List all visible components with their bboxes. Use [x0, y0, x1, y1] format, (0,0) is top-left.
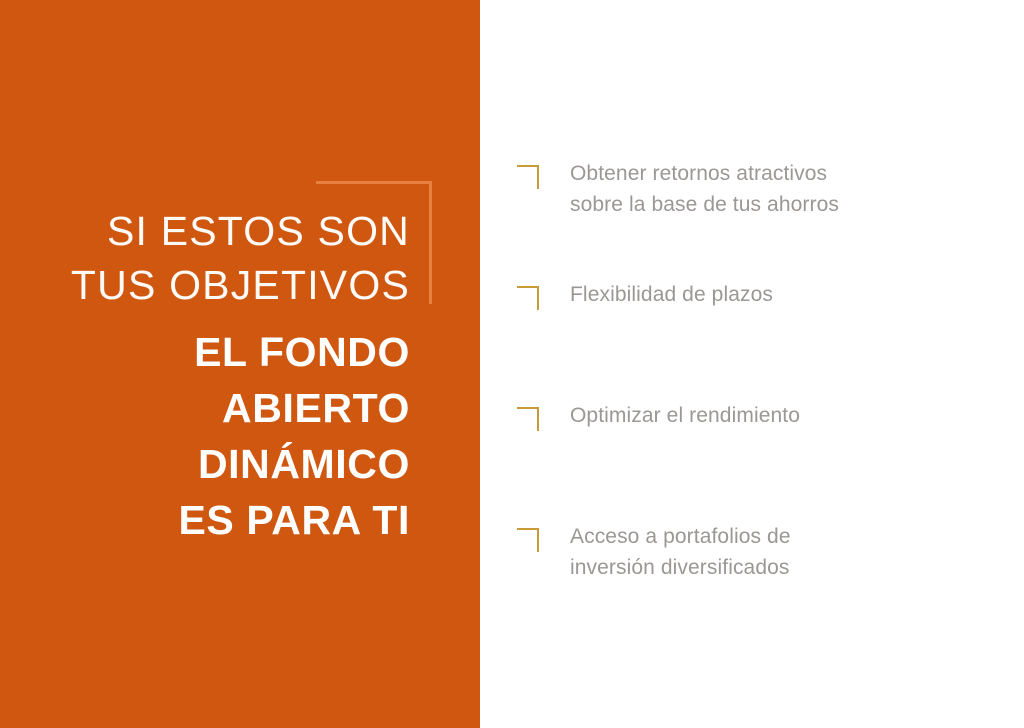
benefit-text-line: Acceso a portafolios de [570, 521, 791, 552]
headline-bold-line-2: ABIERTO [0, 380, 410, 436]
headline-block: SI ESTOS SON TUS OBJETIVOS EL FONDO ABIE… [0, 204, 410, 548]
headline-light-line-1: SI ESTOS SON [0, 204, 410, 258]
benefit-text-line: sobre la base de tus ahorros [570, 189, 839, 220]
benefit-item-1: Obtener retornos atractivos sobre la bas… [517, 158, 1017, 220]
headline-bold-line-3: DINÁMICO [0, 436, 410, 492]
headline-bold-block: EL FONDO ABIERTO DINÁMICO ES PARA TI [0, 324, 410, 548]
corner-bracket-icon [517, 528, 539, 552]
benefit-item-text: Acceso a portafolios de inversión divers… [570, 521, 791, 583]
benefit-item-text: Obtener retornos atractivos sobre la bas… [570, 158, 839, 220]
benefit-text-line: inversión diversificados [570, 552, 791, 583]
benefit-text-line: Optimizar el rendimiento [570, 400, 800, 431]
headline-bold-line-1: EL FONDO [0, 324, 410, 380]
benefit-item-2: Flexibilidad de plazos [517, 279, 1017, 310]
benefit-text-line: Flexibilidad de plazos [570, 279, 773, 310]
benefit-item-3: Optimizar el rendimiento [517, 400, 1017, 431]
benefit-item-4: Acceso a portafolios de inversión divers… [517, 521, 1017, 583]
corner-bracket-icon [517, 286, 539, 310]
left-orange-panel: SI ESTOS SON TUS OBJETIVOS EL FONDO ABIE… [0, 0, 480, 728]
benefit-item-text: Flexibilidad de plazos [570, 279, 773, 310]
headline-light-line-2: TUS OBJETIVOS [0, 258, 410, 312]
benefit-text-line: Obtener retornos atractivos [570, 158, 839, 189]
slide-canvas: SI ESTOS SON TUS OBJETIVOS EL FONDO ABIE… [0, 0, 1024, 728]
headline-light-block: SI ESTOS SON TUS OBJETIVOS [0, 204, 410, 312]
corner-bracket-icon [517, 165, 539, 189]
corner-bracket-icon [517, 407, 539, 431]
benefit-item-text: Optimizar el rendimiento [570, 400, 800, 431]
headline-bold-line-4: ES PARA TI [0, 492, 410, 548]
benefits-list: Obtener retornos atractivos sobre la bas… [480, 0, 1024, 728]
